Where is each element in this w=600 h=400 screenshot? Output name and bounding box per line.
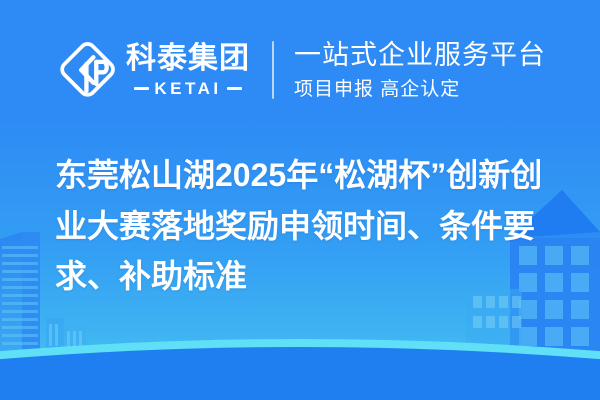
brand-wordmark: 科泰集团 KETAI — [126, 44, 250, 97]
tall-striped-tower — [0, 232, 40, 352]
logo-rule-left — [134, 87, 149, 90]
ketai-diamond-kp-logo-icon — [58, 41, 116, 99]
brand-name-cn: 科泰集团 — [126, 44, 250, 74]
tagline-secondary: 项目申报 高企认定 — [294, 80, 546, 99]
promo-banner: 科泰集团 KETAI 一站式企业服务平台 项目申报 高企认定 东莞松山湖2025… — [0, 0, 600, 400]
cyan-ground-arc — [0, 339, 600, 400]
brand-name-latin: KETAI — [154, 80, 221, 97]
header-divider — [272, 41, 274, 99]
page-title: 东莞松山湖2025年“松湖杯”创新创业大赛落地奖励申领时间、条件要求、补助标准 — [55, 150, 565, 302]
brand-name-latin-row: KETAI — [134, 80, 241, 97]
tagline-primary: 一站式企业服务平台 — [294, 42, 546, 69]
banner-header: 科泰集团 KETAI 一站式企业服务平台 项目申报 高企认定 — [0, 0, 600, 140]
header-tagline: 一站式企业服务平台 项目申报 高企认定 — [294, 42, 546, 99]
logo-rule-right — [227, 87, 242, 90]
brand-logo[interactable]: 科泰集团 KETAI — [58, 41, 250, 99]
